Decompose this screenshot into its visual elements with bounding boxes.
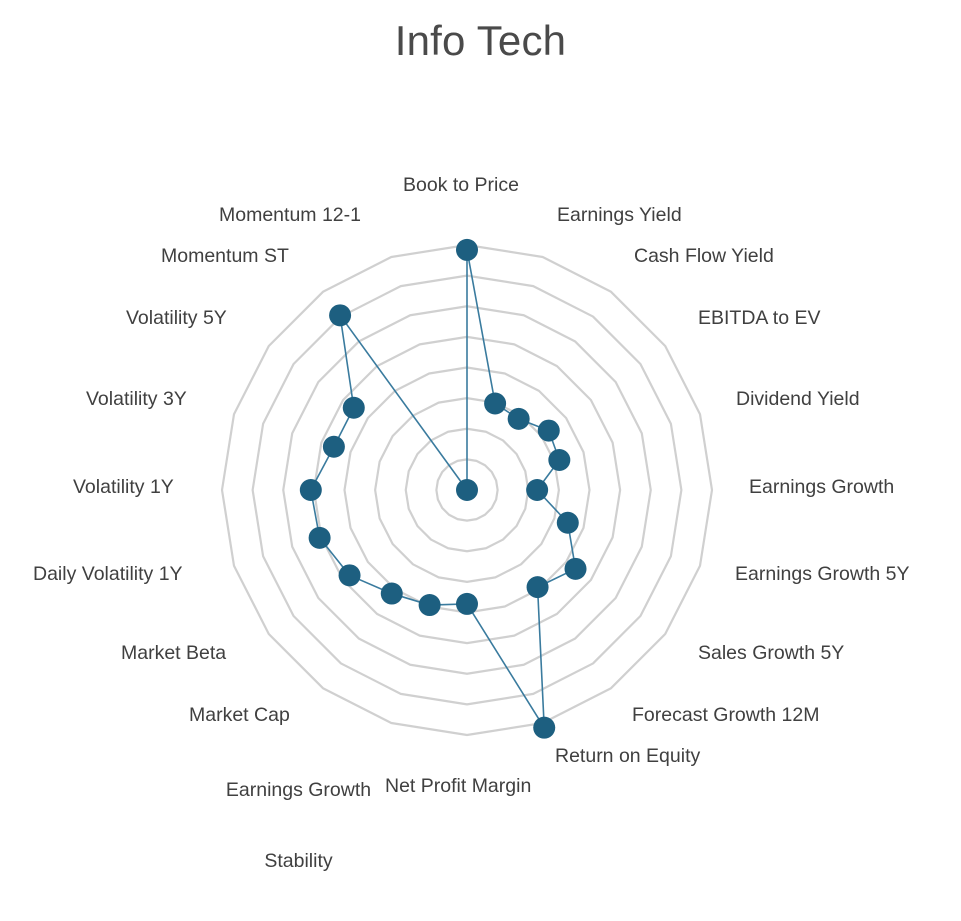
data-point-momentum-12-1 [456, 479, 478, 501]
data-point-forecast-growth-12m [527, 576, 549, 598]
data-point-sales-growth-5y [565, 558, 587, 580]
data-point-volatility-1y [300, 479, 322, 501]
radar-chart: Info Tech Book to Price Earnings Yield C… [0, 0, 961, 830]
data-point-return-on-equity [533, 717, 555, 739]
data-point-book-to-price [456, 239, 478, 261]
data-point-volatility-3y [323, 436, 345, 458]
data-point-earnings-growth [526, 479, 548, 501]
data-point-market-cap [381, 583, 403, 605]
data-point-daily-volatility-1y [309, 527, 331, 549]
data-point-earnings-growth-stability [419, 594, 441, 616]
data-point-earnings-yield [484, 393, 506, 415]
data-point-momentum-st [329, 304, 351, 326]
data-point-dividend-yield [548, 449, 570, 471]
data-point-ebitda-to-ev [538, 420, 560, 442]
data-point-earnings-growth-5y [557, 512, 579, 534]
data-point-net-profit-margin [456, 593, 478, 615]
data-point-cash-flow-yield [508, 408, 530, 430]
axis-label-earnings-growth-stability-line2: Stability [216, 850, 381, 874]
data-point-market-beta [339, 564, 361, 586]
data-point-volatility-5y [343, 397, 365, 419]
radar-plot-area [0, 0, 961, 830]
